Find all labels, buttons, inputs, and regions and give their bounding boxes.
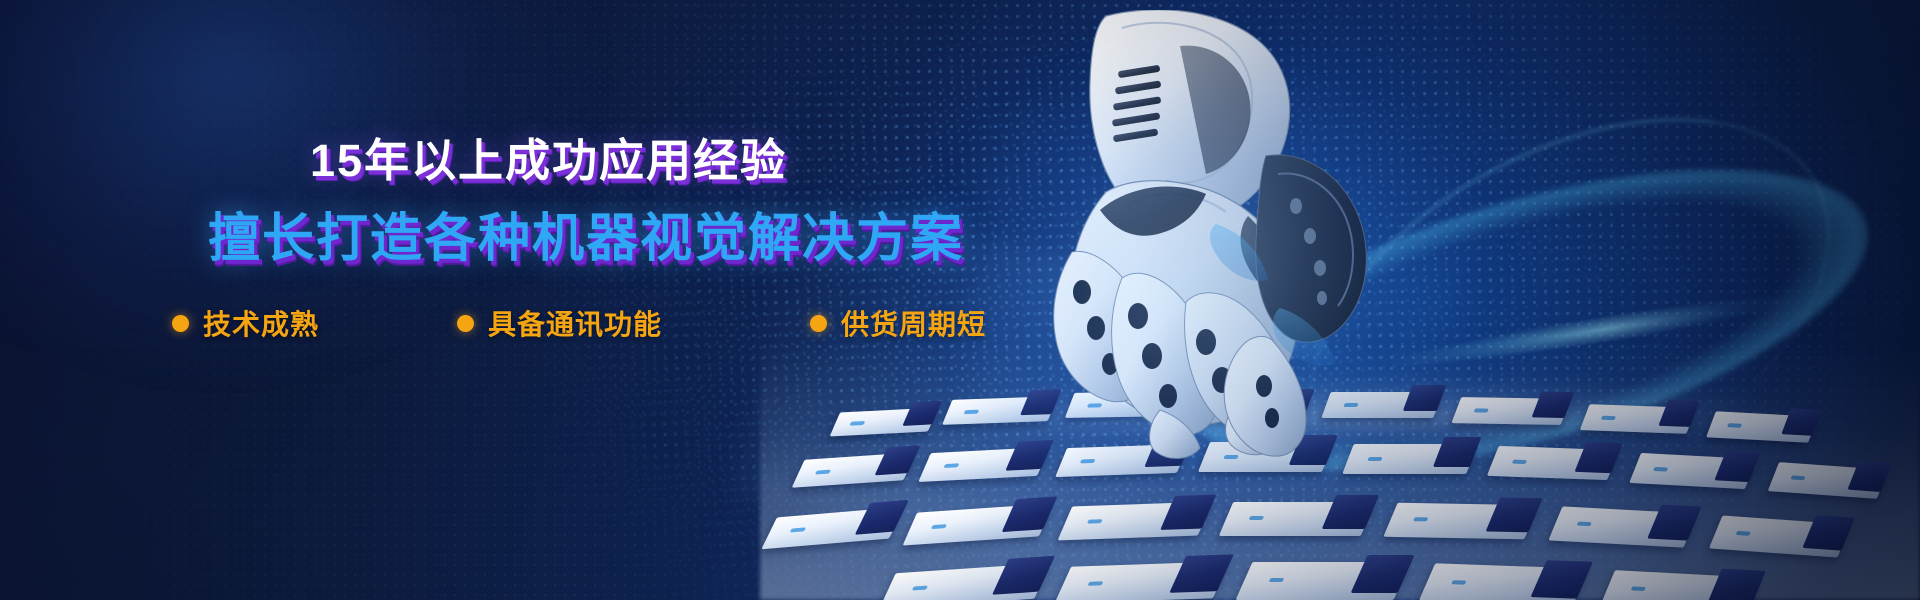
headline-primary: 15年以上成功应用经验: [310, 124, 787, 189]
headline-secondary: 擅长打造各种机器视觉解决方案: [208, 196, 964, 271]
bullet-dot-icon: [172, 315, 189, 332]
feature-bullet-item: 技术成熟: [172, 303, 319, 343]
feature-bullet-item: 具备通讯功能: [457, 303, 662, 343]
feature-bullet-item: 供货周期短: [810, 303, 986, 343]
feature-bullet-label: 具备通讯功能: [488, 303, 662, 343]
feature-bullet-label: 供货周期短: [841, 303, 986, 343]
bullet-dot-icon: [457, 315, 474, 332]
bullet-dot-icon: [810, 315, 827, 332]
promo-banner: 15年以上成功应用经验 擅长打造各种机器视觉解决方案 技术成熟 具备通讯功能 供…: [0, 0, 1920, 600]
feature-bullet-list: 技术成熟 具备通讯功能 供货周期短: [172, 303, 986, 343]
feature-bullet-label: 技术成熟: [203, 303, 319, 343]
banner-content: 15年以上成功应用经验 擅长打造各种机器视觉解决方案 技术成熟 具备通讯功能 供…: [0, 0, 1920, 600]
